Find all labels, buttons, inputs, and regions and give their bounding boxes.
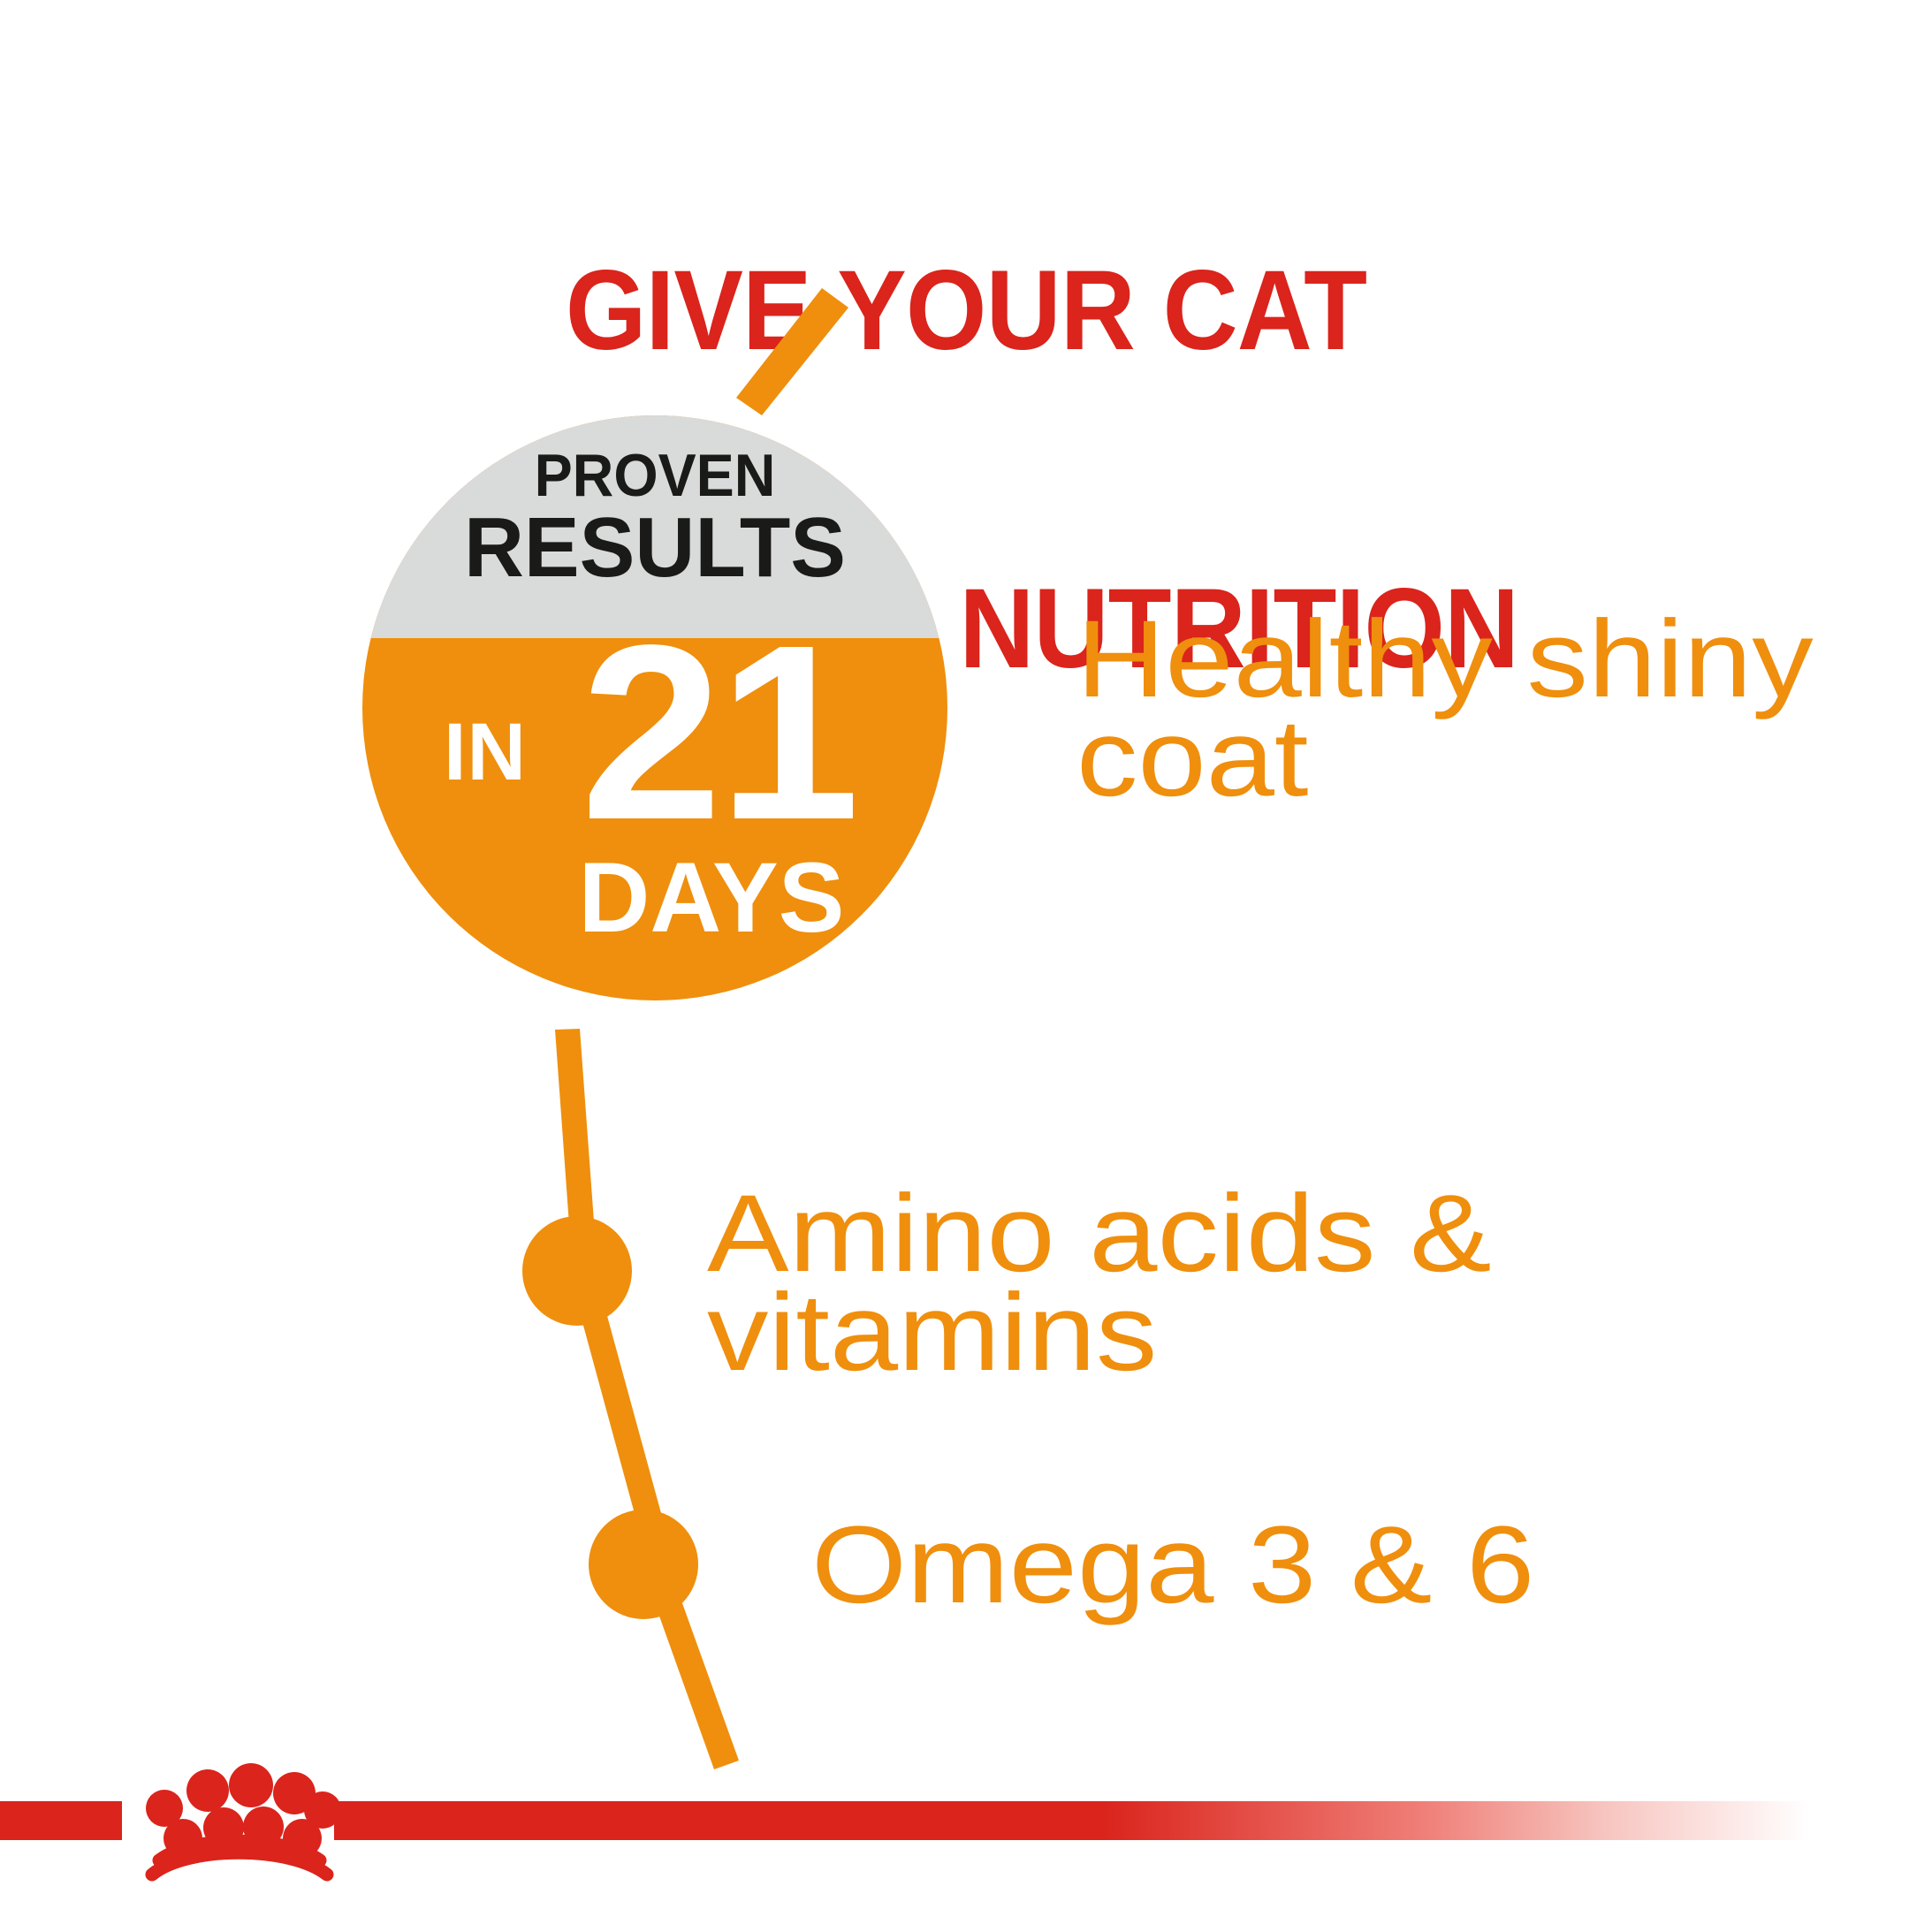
connector-node-1: [522, 1216, 632, 1326]
badge-proven-label: PROVEN: [377, 444, 933, 507]
benefit-label-omega-3-6: Omega 3 & 6: [811, 1516, 1662, 1615]
badge-days-number: 21: [506, 608, 930, 857]
benefit-label-healthy-shiny-coat: Healthy shiny coat: [1076, 610, 1829, 808]
connector-node-2: [589, 1510, 698, 1619]
badge-days-label: DAYS: [504, 848, 919, 947]
connector-segment-2: [580, 1306, 661, 1520]
badge-results-label: RESULTS: [369, 504, 942, 592]
footer-rule-right: [334, 1801, 1810, 1840]
headline-line-1: GIVE YOUR CAT: [77, 258, 1854, 364]
promo-panel: GIVE YOUR CAT TAILORED NUTRITION PROVEN …: [0, 0, 1932, 1932]
royal-canin-crown-icon: [133, 1757, 345, 1885]
connector-segment-1: [555, 1029, 594, 1225]
proven-results-badge: PROVEN RESULTS IN 21 DAYS: [362, 415, 947, 1000]
benefit-label-amino-acids-vitamins: Amino acids & vitamins: [707, 1184, 1558, 1382]
connector-segment-3: [658, 1603, 739, 1769]
footer-rule-left: [0, 1801, 122, 1840]
